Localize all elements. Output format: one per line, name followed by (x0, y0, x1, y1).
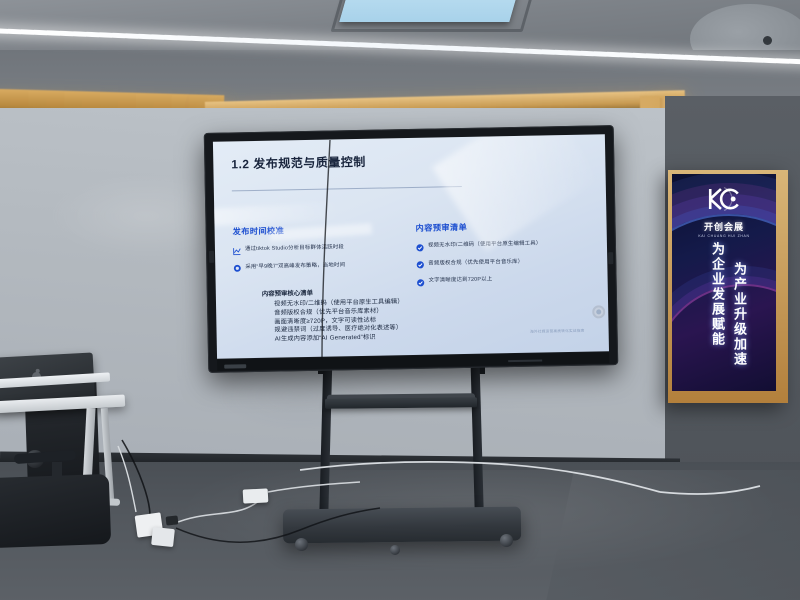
slide-bullet: 音频版权合规（优先使用平台音乐库） (416, 257, 589, 269)
power-adapter (243, 488, 269, 503)
bullet-text: 音频版权合规（优先使用平台音乐库） (428, 258, 523, 267)
banner-slogan-1: 为企业发展赋能 (708, 242, 727, 347)
bullet-text: 采用“早9晚7”双高峰发布策略，当地时间 (245, 262, 345, 271)
slide-bullet: 视频无水印/二维码（使用平台原生编辑工具） (416, 240, 589, 252)
cart-shelf[interactable] (325, 397, 477, 409)
ceiling-speaker-icon (763, 36, 772, 45)
bullet-text: 文字清晰度达到720P以上 (429, 276, 493, 284)
cart-caster (295, 538, 308, 551)
cart-caster (500, 534, 513, 547)
banner-logo-cn: 开创会展 (672, 220, 776, 233)
overlay-heading: 内容预审核心清单 (262, 286, 404, 298)
room-scene: 开创会展 KAI CHUANG HUI ZHAN 为企业发展赋能 为产业升级加速… (0, 0, 800, 600)
title-divider (232, 186, 462, 191)
banner-logo: 开创会展 KAI CHUANG HUI ZHAN (672, 186, 776, 238)
slide-watermark: 海外社媒运营高质转化实战指南 (530, 329, 585, 335)
bullet-text: 通过tiktok Studio分析目标群体活跃时段 (245, 244, 344, 253)
slide-bullet: 采用“早9晚7”双高峰发布策略，当地时间 (233, 261, 406, 273)
slide-bullet: 文字清晰度达到720P以上 (417, 275, 590, 287)
display-side-button-right[interactable] (608, 252, 613, 264)
check-circle-icon (417, 278, 425, 286)
chart-trend-icon (233, 247, 241, 255)
banner-logo-en: KAI CHUANG HUI ZHAN (672, 234, 776, 238)
kc-logo-icon (707, 186, 741, 212)
slide-bullet: 通过tiktok Studio分析目标群体活跃时段 (233, 243, 406, 255)
ceiling-light-panel-frame (331, 0, 538, 32)
banner-lightbox: 开创会展 KAI CHUANG HUI ZHAN 为企业发展赋能 为产业升级加速 (668, 170, 788, 403)
display-screen[interactable]: 1.2 发布规范与质量控制 发布时间校准 通过tiktok Studio分析目标… (213, 134, 609, 358)
display-side-button-left[interactable] (209, 251, 214, 263)
office-chair-seat[interactable] (0, 474, 111, 548)
display-brand-logo (224, 364, 246, 368)
cart-base (283, 507, 521, 544)
slide-overlay-text: 内容预审核心清单 视频无水印/二维码（使用平台原生工具编辑） 音频版权合规（优先… (262, 286, 405, 345)
interactive-flat-panel-display[interactable]: 1.2 发布规范与质量控制 发布时间校准 通过tiktok Studio分析目标… (204, 125, 619, 373)
check-circle-icon (416, 243, 424, 251)
banner-slogan-2: 为产业升级加速 (730, 262, 749, 367)
power-adapter (151, 527, 175, 547)
overlay-line: AI生成内容添加“AI Generated”标识 (275, 333, 405, 344)
banner-artwork: 开创会展 KAI CHUANG HUI ZHAN 为企业发展赋能 为产业升级加速 (672, 174, 776, 391)
adapter-plug-icon (166, 515, 179, 525)
cart-caster (390, 545, 400, 555)
target-circle-icon (233, 264, 241, 272)
check-circle-icon (416, 261, 424, 269)
